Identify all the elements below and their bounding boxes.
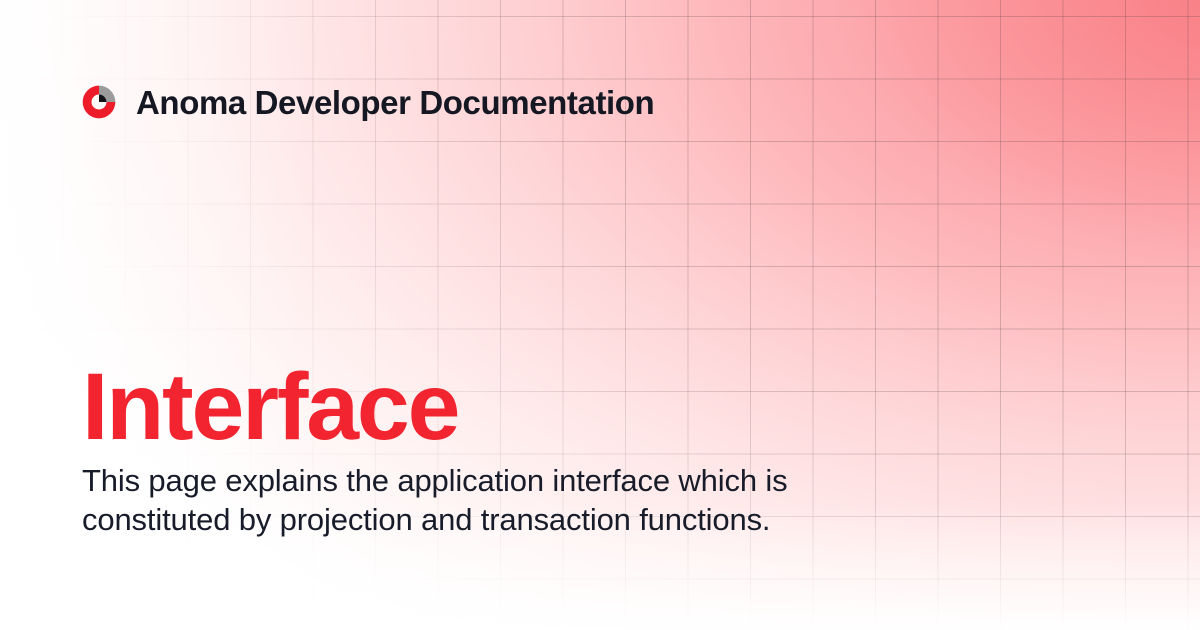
brand-title: Anoma Developer Documentation	[136, 86, 654, 119]
card-content: Anoma Developer Documentation Interface …	[0, 0, 1200, 630]
og-card: Anoma Developer Documentation Interface …	[0, 0, 1200, 630]
brand-header: Anoma Developer Documentation	[82, 82, 654, 122]
page-title: Interface	[82, 360, 458, 455]
page-description: This page explains the application inter…	[82, 461, 862, 539]
anoma-logo-icon	[82, 85, 116, 119]
